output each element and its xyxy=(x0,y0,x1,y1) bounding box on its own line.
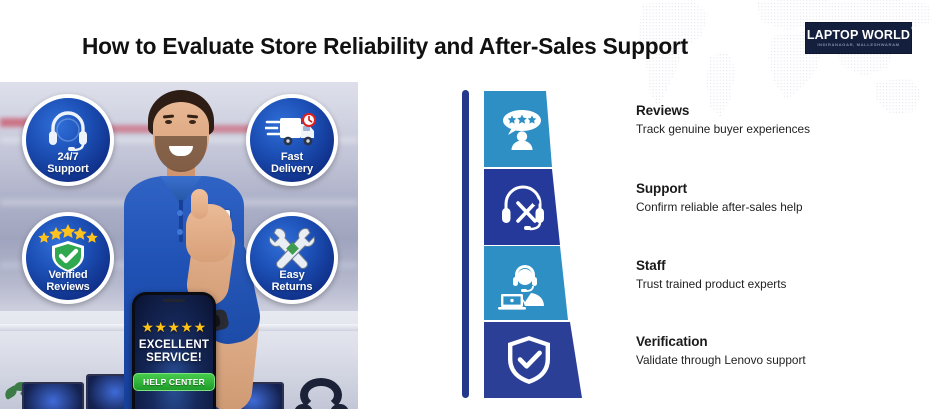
funnel-description: Trust trained product experts xyxy=(636,277,786,292)
funnel-title: Support xyxy=(636,181,803,197)
funnel-text-2: Support Confirm reliable after-sales hel… xyxy=(636,181,803,215)
funnel-text-4: Verification Validate through Lenovo sup… xyxy=(636,334,806,368)
funnel-title: Verification xyxy=(636,334,806,350)
funnel-item-support[interactable]: Support Confirm reliable after-sales hel… xyxy=(484,169,884,245)
funnel-description: Confirm reliable after-sales help xyxy=(636,200,803,215)
funnel-description: Track genuine buyer experiences xyxy=(636,122,810,137)
funnel-tile-1 xyxy=(484,91,560,167)
funnel-tile-3 xyxy=(484,246,576,320)
funnel-tile-4 xyxy=(484,322,590,398)
funnel-tile-2 xyxy=(484,169,568,245)
funnel-text-1: Reviews Track genuine buyer experiences xyxy=(636,103,810,137)
funnel-title: Reviews xyxy=(636,103,810,119)
slide-root: LAPTOP WORLD® INDIRANAGAR, MALLESHWARAM … xyxy=(0,0,936,409)
funnel-items: Reviews Track genuine buyer experiences xyxy=(0,0,936,409)
funnel-item-reviews[interactable]: Reviews Track genuine buyer experiences xyxy=(484,91,884,167)
funnel-text-3: Staff Trust trained product experts xyxy=(636,258,786,292)
funnel-description: Validate through Lenovo support xyxy=(636,353,806,368)
funnel-title: Staff xyxy=(636,258,786,274)
funnel-item-verification[interactable]: Verification Validate through Lenovo sup… xyxy=(484,322,884,398)
funnel-item-staff[interactable]: Staff Trust trained product experts xyxy=(484,246,884,320)
